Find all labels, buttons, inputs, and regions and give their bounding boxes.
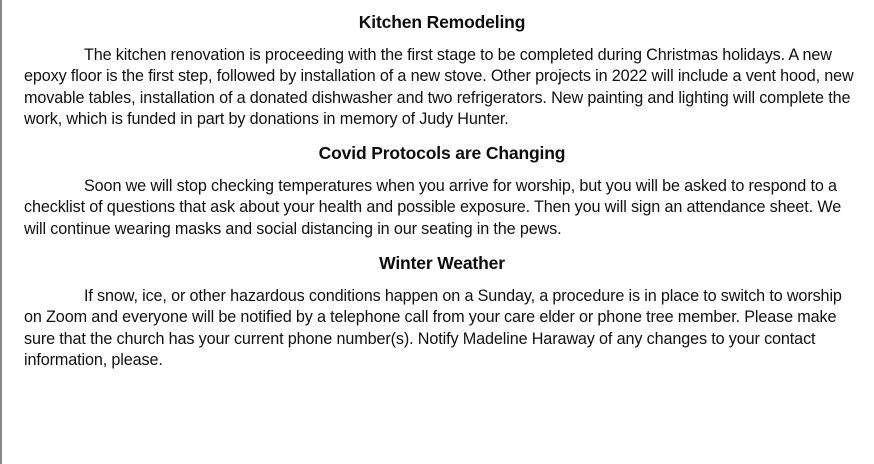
document-content: Kitchen Remodeling The kitchen renovatio… [24,0,860,371]
paragraph-covid-protocols: Soon we will stop checking temperatures … [24,176,860,240]
heading-covid-protocols: Covid Protocols are Changing [24,143,860,164]
spacer [24,164,860,176]
document-page: Kitchen Remodeling The kitchen renovatio… [0,0,874,464]
spacer [24,33,860,45]
spacer [24,130,860,143]
heading-kitchen-remodeling: Kitchen Remodeling [24,12,860,33]
heading-winter-weather: Winter Weather [24,253,860,274]
spacer [24,274,860,286]
paragraph-winter-weather: If snow, ice, or other hazardous conditi… [24,286,860,371]
spacer [24,240,860,253]
section-winter-weather: Winter Weather If snow, ice, or other ha… [24,253,860,371]
section-covid-protocols: Covid Protocols are Changing Soon we wil… [24,143,860,240]
section-kitchen-remodeling: Kitchen Remodeling The kitchen renovatio… [24,0,860,130]
paragraph-kitchen-remodeling: The kitchen renovation is proceeding wit… [24,45,860,130]
